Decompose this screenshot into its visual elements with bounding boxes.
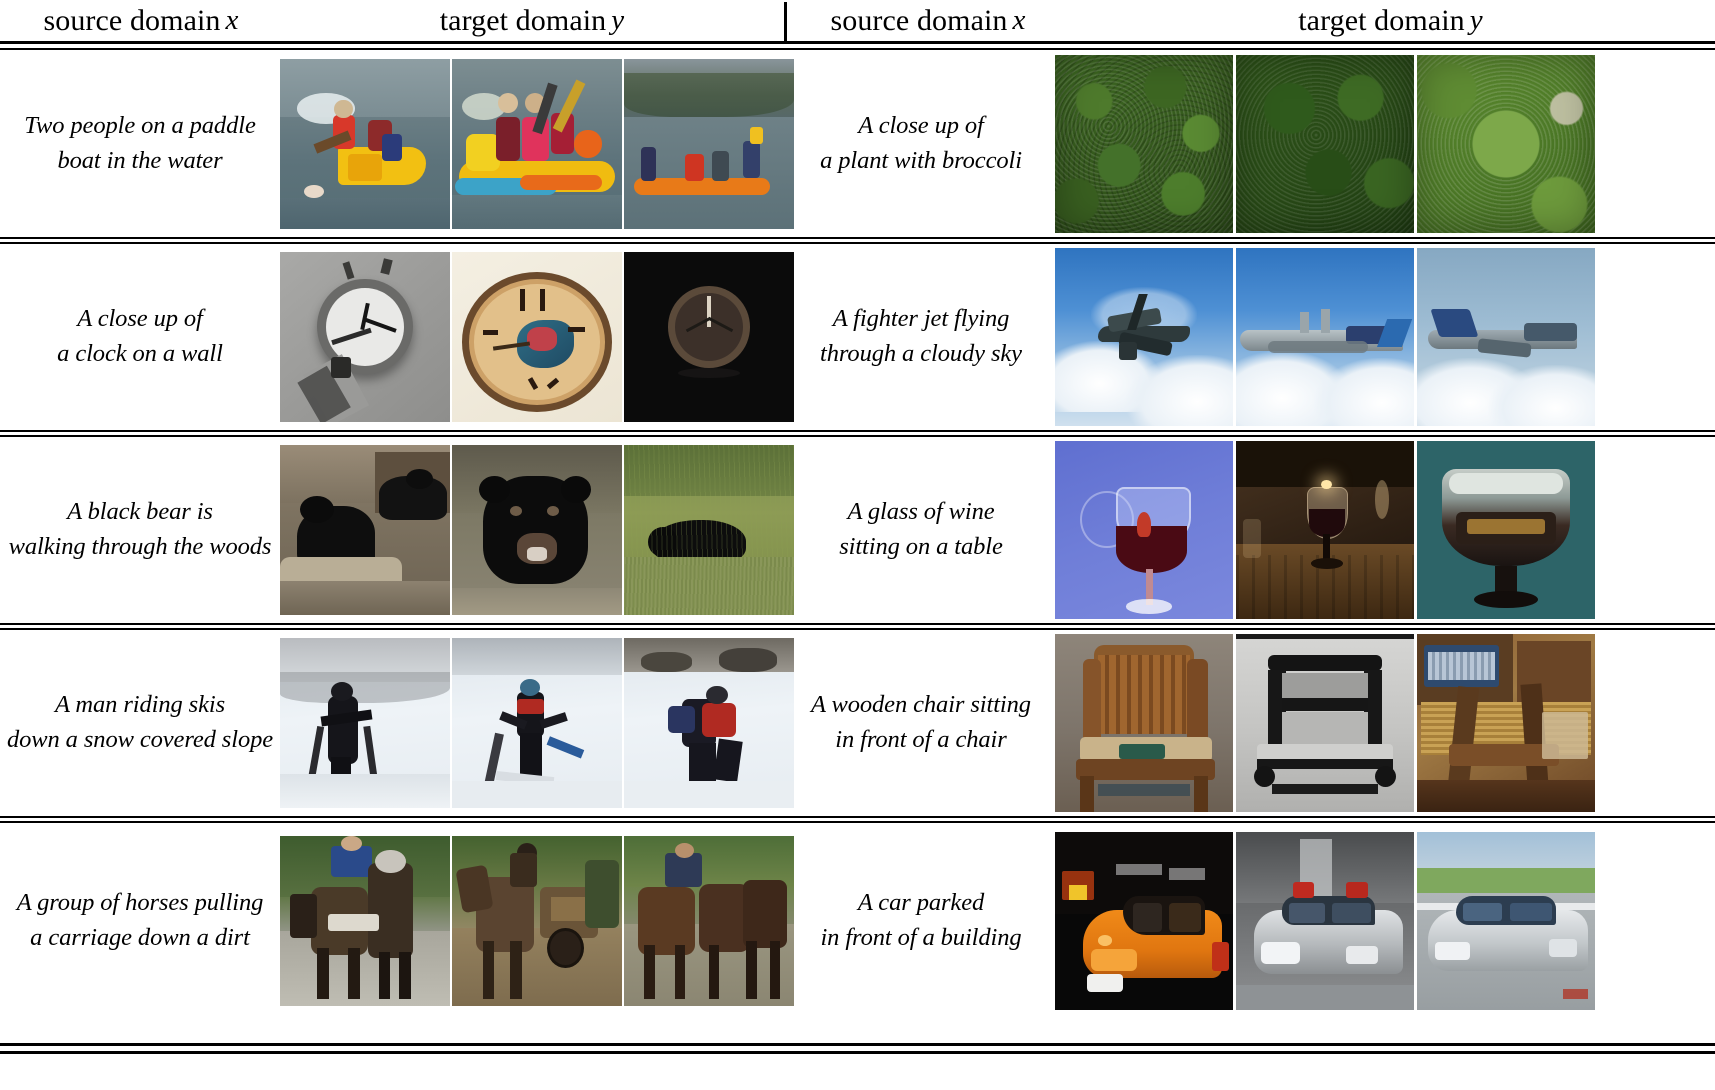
caption-line: A car parked [858, 886, 984, 921]
row-half-left: A black bear is walking through the wood… [0, 437, 784, 623]
result-image-paddle-boat-kayak-1 [280, 59, 450, 229]
image-strip [1055, 823, 1715, 1019]
caption-cell: A group of horses pulling a carriage dow… [2, 823, 278, 1019]
caption-line: a carriage down a dirt [30, 921, 250, 956]
caption-line: A wooden chair sitting [811, 688, 1031, 723]
caption-line: down a snow covered slope [7, 723, 273, 758]
header-rule-lower [0, 48, 1715, 50]
table-row: A man riding skis down a snow covered sl… [0, 630, 1715, 816]
result-image-skier-1 [280, 638, 450, 808]
row-half-right: A fighter jet flying through a cloudy sk… [787, 244, 1715, 430]
table-row: A group of horses pulling a carriage dow… [0, 823, 1715, 1019]
table-row: A black bear is walking through the wood… [0, 437, 1715, 623]
caption-cell: A wooden chair sitting in front of a cha… [787, 630, 1055, 816]
result-image-black-bears-rocks [280, 445, 450, 615]
result-image-oval-clock-warm [452, 252, 622, 422]
caption-line: in front of a building [820, 921, 1021, 956]
row-half-left: A close up of a clock on a wall [0, 244, 784, 430]
result-image-dark-clock-red [624, 252, 794, 422]
caption-line: A man riding skis [55, 688, 225, 723]
result-image-paddle-boat-kayak-2 [452, 59, 622, 229]
row-half-right: A close up of a plant with broccoli [787, 51, 1715, 237]
caption-line: A close up of [77, 302, 203, 337]
table-header: source domainx target domainy source dom… [0, 0, 1715, 41]
header-label: source domain [830, 6, 1007, 36]
bottom-rule-lower [0, 1051, 1715, 1054]
header-label: target domain [440, 6, 607, 36]
caption-cell: A fighter jet flying through a cloudy sk… [787, 244, 1055, 430]
result-image-broccoli-2 [1236, 55, 1414, 233]
table-row: Two people on a paddle boat in the water [0, 51, 1715, 237]
result-image-silver-car [1417, 832, 1595, 1010]
result-image-jet-3 [1417, 248, 1595, 426]
result-image-skier-3 [624, 638, 794, 808]
row-half-left: Two people on a paddle boat in the water [0, 51, 784, 237]
header-target-domain-left: target domainy [282, 0, 782, 41]
caption-cell: A close up of a plant with broccoli [787, 51, 1055, 237]
caption-line: a clock on a wall [57, 337, 223, 372]
image-strip [1055, 437, 1715, 623]
caption-line: in front of a chair [835, 723, 1006, 758]
result-image-jet-2 [1236, 248, 1414, 426]
header-math-var: x [221, 6, 239, 35]
bottom-rule-upper [0, 1043, 1715, 1046]
header-label: target domain [1298, 6, 1465, 36]
header-label: source domain [43, 6, 220, 36]
header-math-var: y [606, 6, 624, 35]
result-image-horse-carriage-3 [624, 836, 794, 1006]
result-image-wine-glass-teal [1417, 441, 1595, 619]
row-half-left: A group of horses pulling a carriage dow… [0, 823, 784, 1019]
caption-cell: Two people on a paddle boat in the water [2, 51, 278, 237]
result-image-wooden-chair-1 [1055, 634, 1233, 812]
result-image-orange-car-night [1055, 832, 1233, 1010]
result-image-chair-bw [1236, 634, 1414, 812]
result-image-broccoli-3 [1417, 55, 1595, 233]
caption-line: a plant with broccoli [820, 144, 1022, 179]
result-image-skier-2 [452, 638, 622, 808]
header-rule-upper [0, 41, 1715, 44]
row-half-right: A glass of wine sitting on a table [787, 437, 1715, 623]
result-image-wall-clock-bw [280, 252, 450, 422]
result-image-wine-glass-blue [1055, 441, 1233, 619]
caption-line: A glass of wine [847, 495, 994, 530]
result-image-black-bear-grass [624, 445, 794, 615]
caption-line: through a cloudy sky [820, 337, 1022, 372]
image-strip [1055, 630, 1715, 816]
caption-line: A group of horses pulling [17, 886, 264, 921]
image-strip [280, 51, 784, 237]
caption-line: A black bear is [67, 495, 213, 530]
result-image-paddle-boat-kayak-3 [624, 59, 794, 229]
caption-line: A fighter jet flying [833, 302, 1010, 337]
result-image-police-car [1236, 832, 1414, 1010]
header-math-var: x [1008, 6, 1026, 35]
caption-line: Two people on a paddle [24, 109, 255, 144]
caption-cell: A glass of wine sitting on a table [787, 437, 1055, 623]
caption-cell: A close up of a clock on a wall [2, 244, 278, 430]
result-image-horse-carriage-2 [452, 836, 622, 1006]
image-strip [280, 630, 784, 816]
table-row: A close up of a clock on a wall [0, 244, 1715, 430]
image-strip [280, 823, 784, 1019]
image-strip [1055, 51, 1715, 237]
header-math-var: y [1465, 6, 1483, 35]
result-image-chair-room [1417, 634, 1595, 812]
row-half-right: A car parked in front of a building [787, 823, 1715, 1019]
result-image-wine-glass-room [1236, 441, 1414, 619]
caption-line: boat in the water [57, 144, 222, 179]
qualitative-results-figure: source domainx target domainy source dom… [0, 0, 1715, 1090]
result-image-horse-carriage-1 [280, 836, 450, 1006]
caption-cell: A car parked in front of a building [787, 823, 1055, 1019]
result-image-black-bear-face [452, 445, 622, 615]
header-source-domain-left: source domainx [0, 0, 282, 41]
result-image-broccoli-1 [1055, 55, 1233, 233]
row-half-left: A man riding skis down a snow covered sl… [0, 630, 784, 816]
header-vertical-divider [784, 2, 787, 42]
caption-line: A close up of [858, 109, 984, 144]
header-source-domain-right: source domainx [790, 0, 1066, 41]
row-half-right: A wooden chair sitting in front of a cha… [787, 630, 1715, 816]
result-image-jet-1 [1055, 248, 1233, 426]
header-target-domain-right: target domainy [1066, 0, 1715, 41]
caption-line: sitting on a table [839, 530, 1003, 565]
image-strip [280, 437, 784, 623]
image-strip [1055, 244, 1715, 430]
image-strip [280, 244, 784, 430]
caption-cell: A man riding skis down a snow covered sl… [2, 630, 278, 816]
caption-cell: A black bear is walking through the wood… [2, 437, 278, 623]
caption-line: walking through the woods [9, 530, 272, 565]
